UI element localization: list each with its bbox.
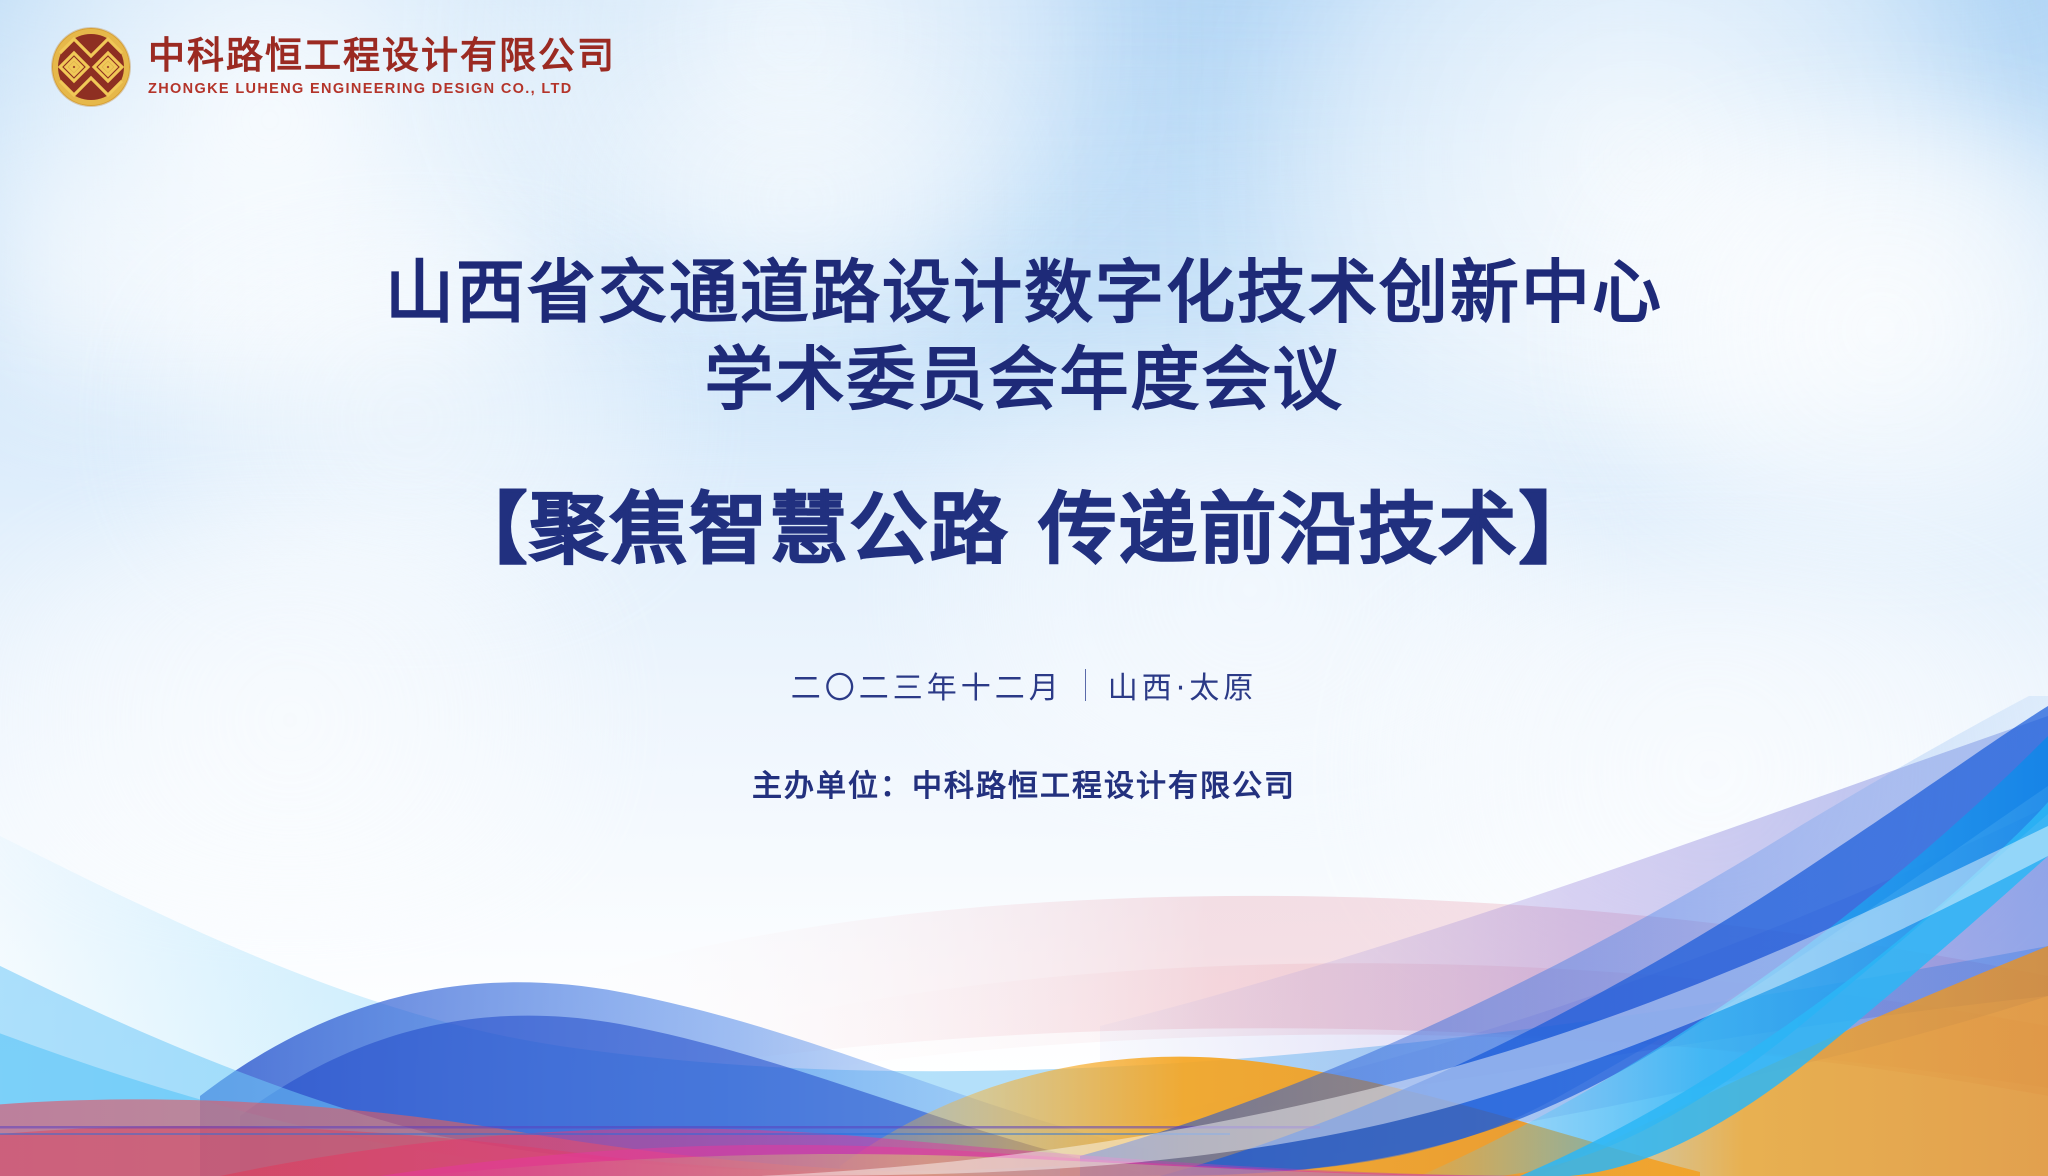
theme-highlight: 【聚焦智慧公路 传递前沿技术】 (0, 484, 2048, 578)
meta-divider (1085, 669, 1086, 701)
brand-name-block: 中科路恒工程设计有限公司 ZHONGKE LUHENG ENGINEERING … (148, 37, 616, 97)
brand-name-cn: 中科路恒工程设计有限公司 (148, 37, 616, 74)
host-organization: 主办单位：中科路恒工程设计有限公司 (0, 761, 2048, 805)
poster-content: 山西省交通道路设计数字化技术创新中心 学术委员会年度会议 【聚焦智慧公路 传递前… (0, 250, 2048, 805)
brand-logo-lockup: 中科路恒工程设计有限公司 ZHONGKE LUHENG ENGINEERING … (52, 28, 616, 106)
event-meta: 二〇二三年十二月 山西·太原 (0, 663, 2048, 707)
title-line-1: 山西省交通道路设计数字化技术创新中心 (385, 253, 1663, 333)
title-line-2: 学术委员会年度会议 (184, 337, 1864, 424)
zhongke-luheng-circular-emblem-icon (52, 28, 130, 106)
event-location: 山西·太原 (1108, 663, 1258, 707)
event-date: 二〇二三年十二月 (791, 663, 1063, 707)
page-title: 山西省交通道路设计数字化技术创新中心 学术委员会年度会议 (184, 250, 1864, 424)
conference-poster: 中科路恒工程设计有限公司 ZHONGKE LUHENG ENGINEERING … (0, 0, 2048, 1176)
brand-name-en: ZHONGKE LUHENG ENGINEERING DESIGN CO., L… (148, 82, 616, 97)
